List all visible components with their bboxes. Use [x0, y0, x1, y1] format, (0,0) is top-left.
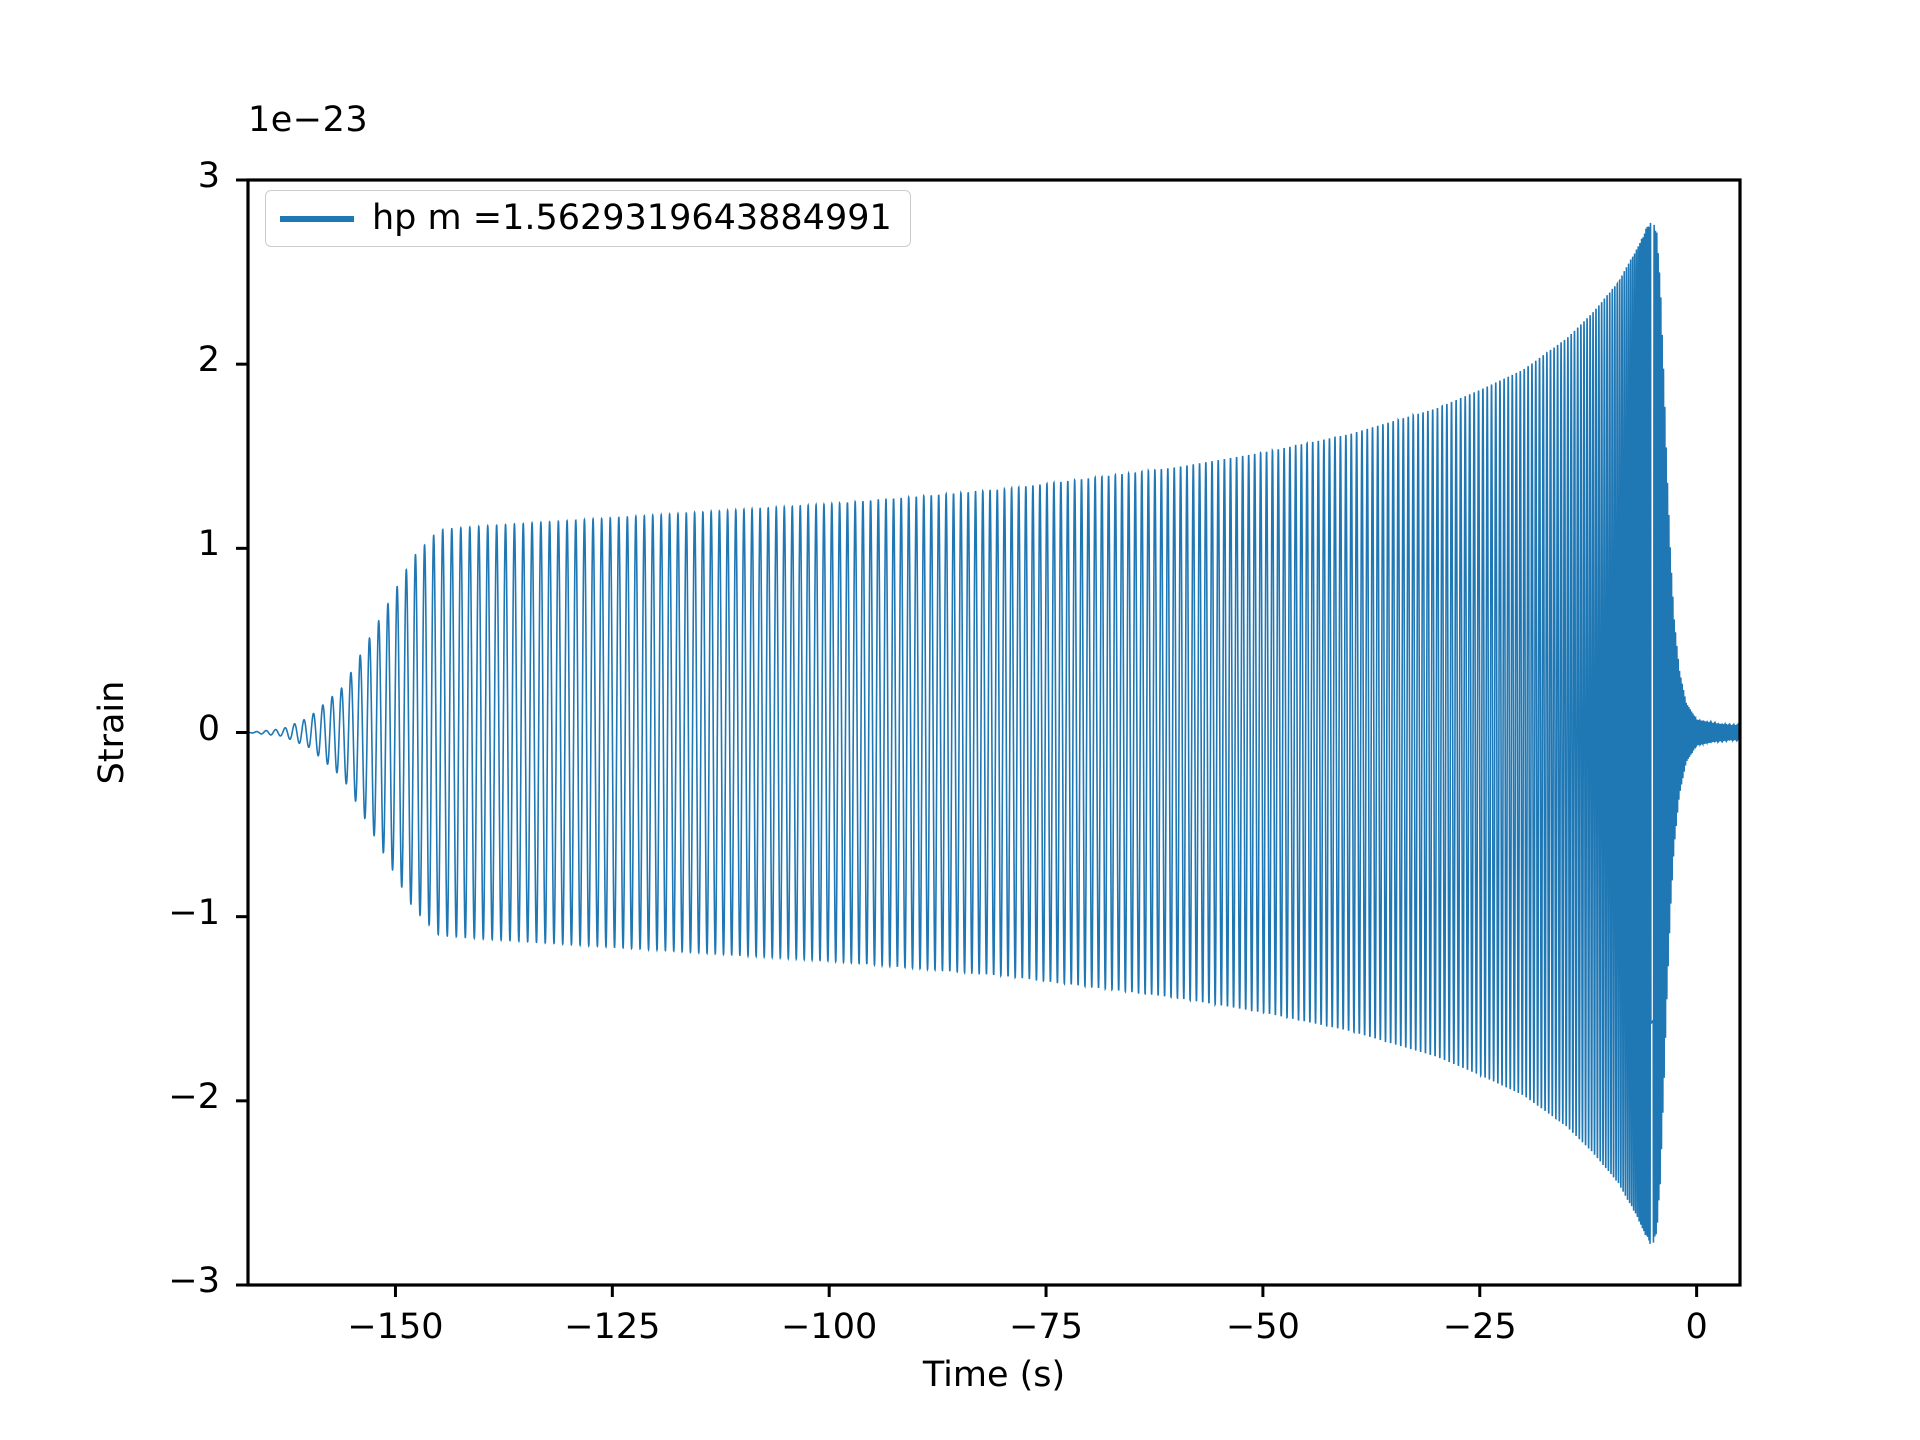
matplotlib-figure: 1e−23 −3−2−10123 −150−125−100−75−50−250 … — [0, 0, 1920, 1440]
x-tick-label-6: 0 — [1617, 1307, 1777, 1347]
y-tick-label-3: 0 — [130, 709, 220, 749]
legend-line-swatch — [280, 216, 354, 222]
legend[interactable]: hp m =1.5629319643884991 — [265, 190, 911, 247]
x-tick-label-1: −125 — [532, 1307, 692, 1347]
x-axis-label: Time (s) — [248, 1355, 1740, 1395]
y-axis-offset-text: 1e−23 — [248, 100, 368, 140]
x-tick-label-2: −100 — [749, 1307, 909, 1347]
y-tick-label-6: 3 — [130, 156, 220, 196]
x-tick-label-4: −50 — [1183, 1307, 1343, 1347]
y-tick-label-0: −3 — [130, 1261, 220, 1301]
y-tick-label-4: 1 — [130, 524, 220, 564]
y-tick-label-1: −2 — [130, 1077, 220, 1117]
y-axis-label: Strain — [92, 180, 132, 1285]
y-tick-label-2: −1 — [130, 893, 220, 933]
y-tick-label-5: 2 — [130, 340, 220, 380]
x-tick-label-0: −150 — [315, 1307, 475, 1347]
legend-entry-label: hp m =1.5629319643884991 — [372, 201, 892, 236]
x-tick-label-5: −25 — [1400, 1307, 1560, 1347]
x-tick-label-3: −75 — [966, 1307, 1126, 1347]
